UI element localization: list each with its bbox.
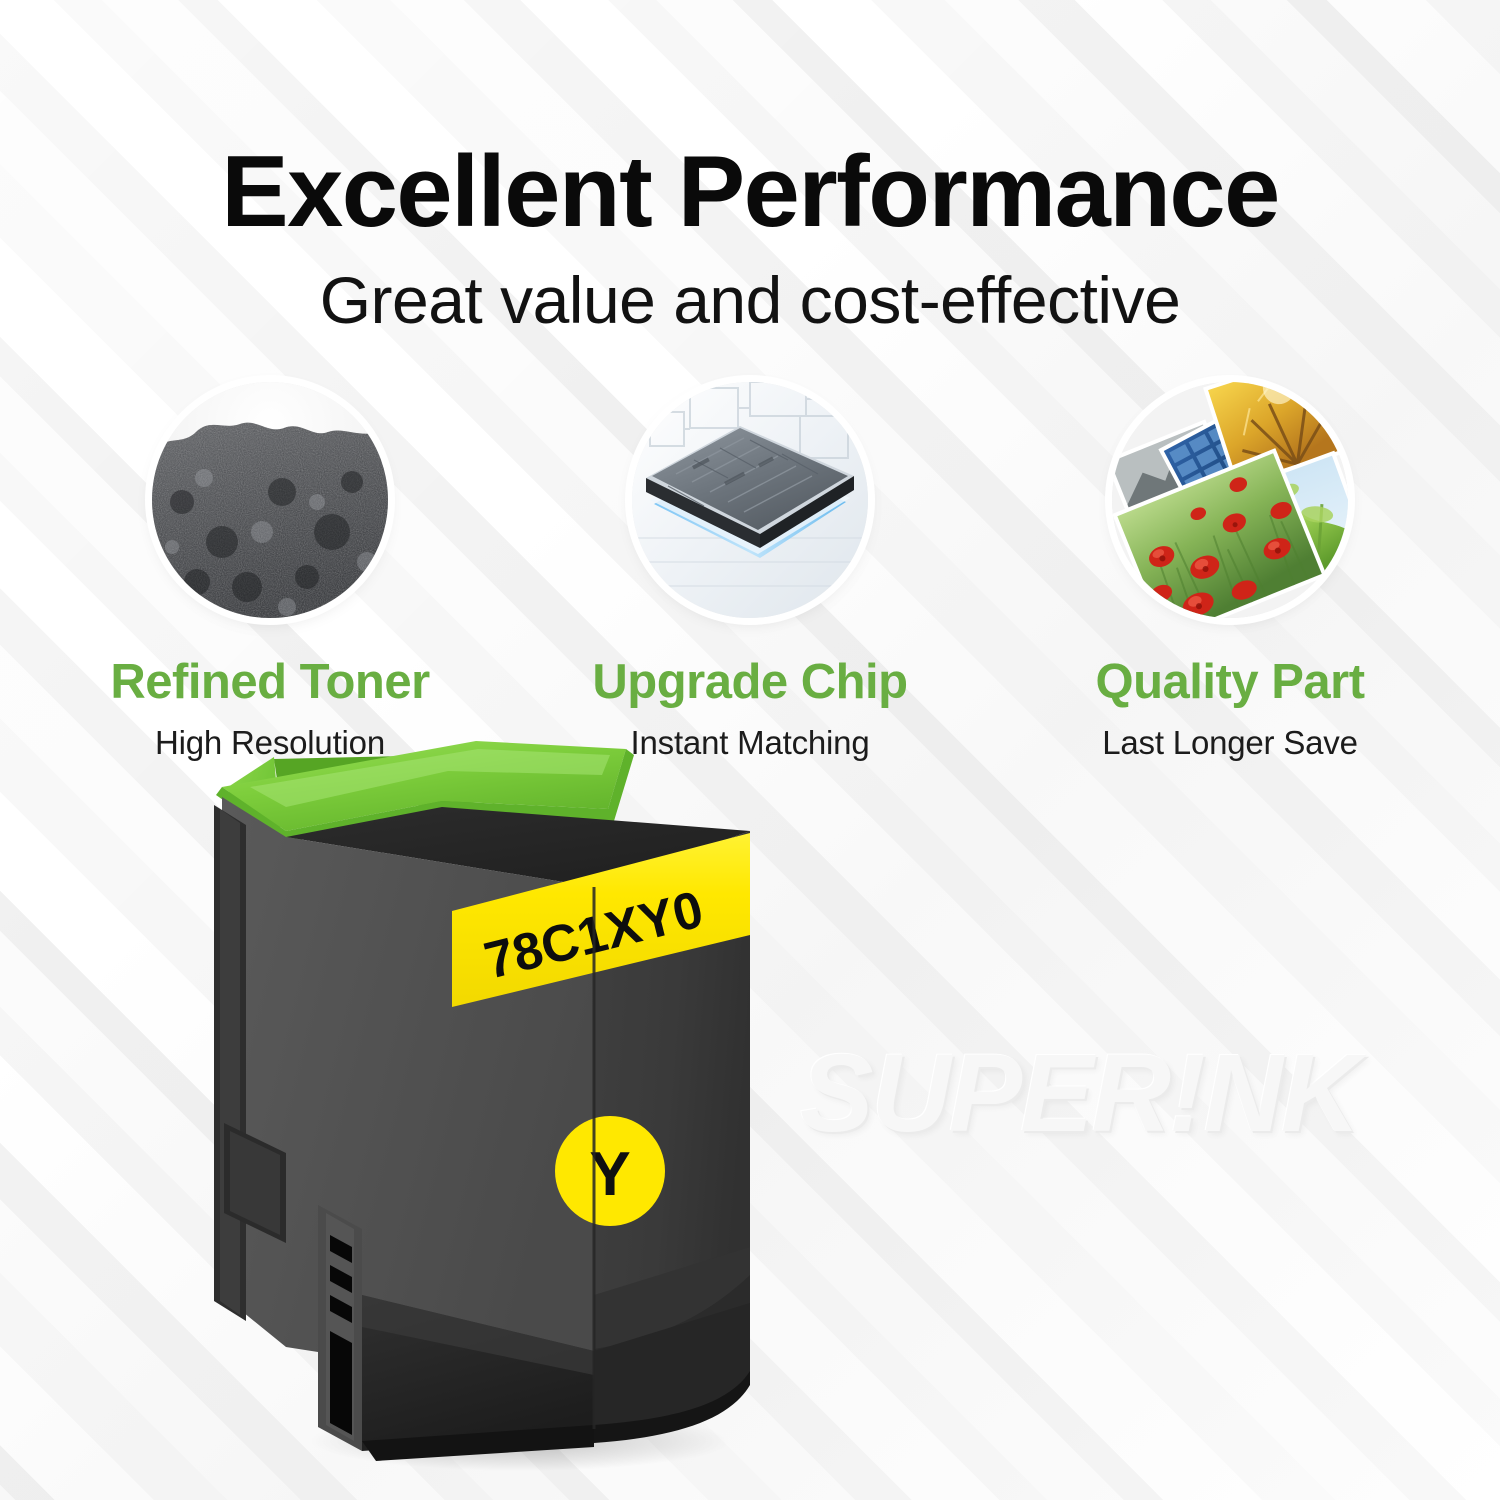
toner-cartridge-product-image: 78C1XY0 Y: [190, 735, 810, 1475]
color-indicator-y: Y: [555, 1116, 665, 1226]
feature-title: Upgrade Chip: [592, 658, 907, 707]
subheadline: Great value and cost-effective: [0, 264, 1500, 337]
feature-refined-toner: Refined Toner High Resolution: [60, 382, 480, 759]
headline: Excellent Performance: [0, 138, 1500, 247]
product-banner: Excellent Performance Great value and co…: [0, 0, 1500, 1500]
toner-powder-icon: [152, 382, 388, 618]
feature-subtitle: Last Longer Save: [1102, 726, 1357, 759]
feature-quality-part: Quality Part Last Longer Save: [1020, 382, 1440, 759]
color-code-text: Y: [589, 1140, 630, 1209]
feature-row: Refined Toner High Resolution: [60, 382, 1440, 759]
microchip-icon: [632, 382, 868, 618]
photo-prints-icon: [1112, 382, 1348, 618]
feature-title: Quality Part: [1095, 658, 1364, 707]
feature-upgrade-chip: Upgrade Chip Instant Matching: [540, 382, 960, 759]
feature-title: Refined Toner: [110, 658, 429, 707]
